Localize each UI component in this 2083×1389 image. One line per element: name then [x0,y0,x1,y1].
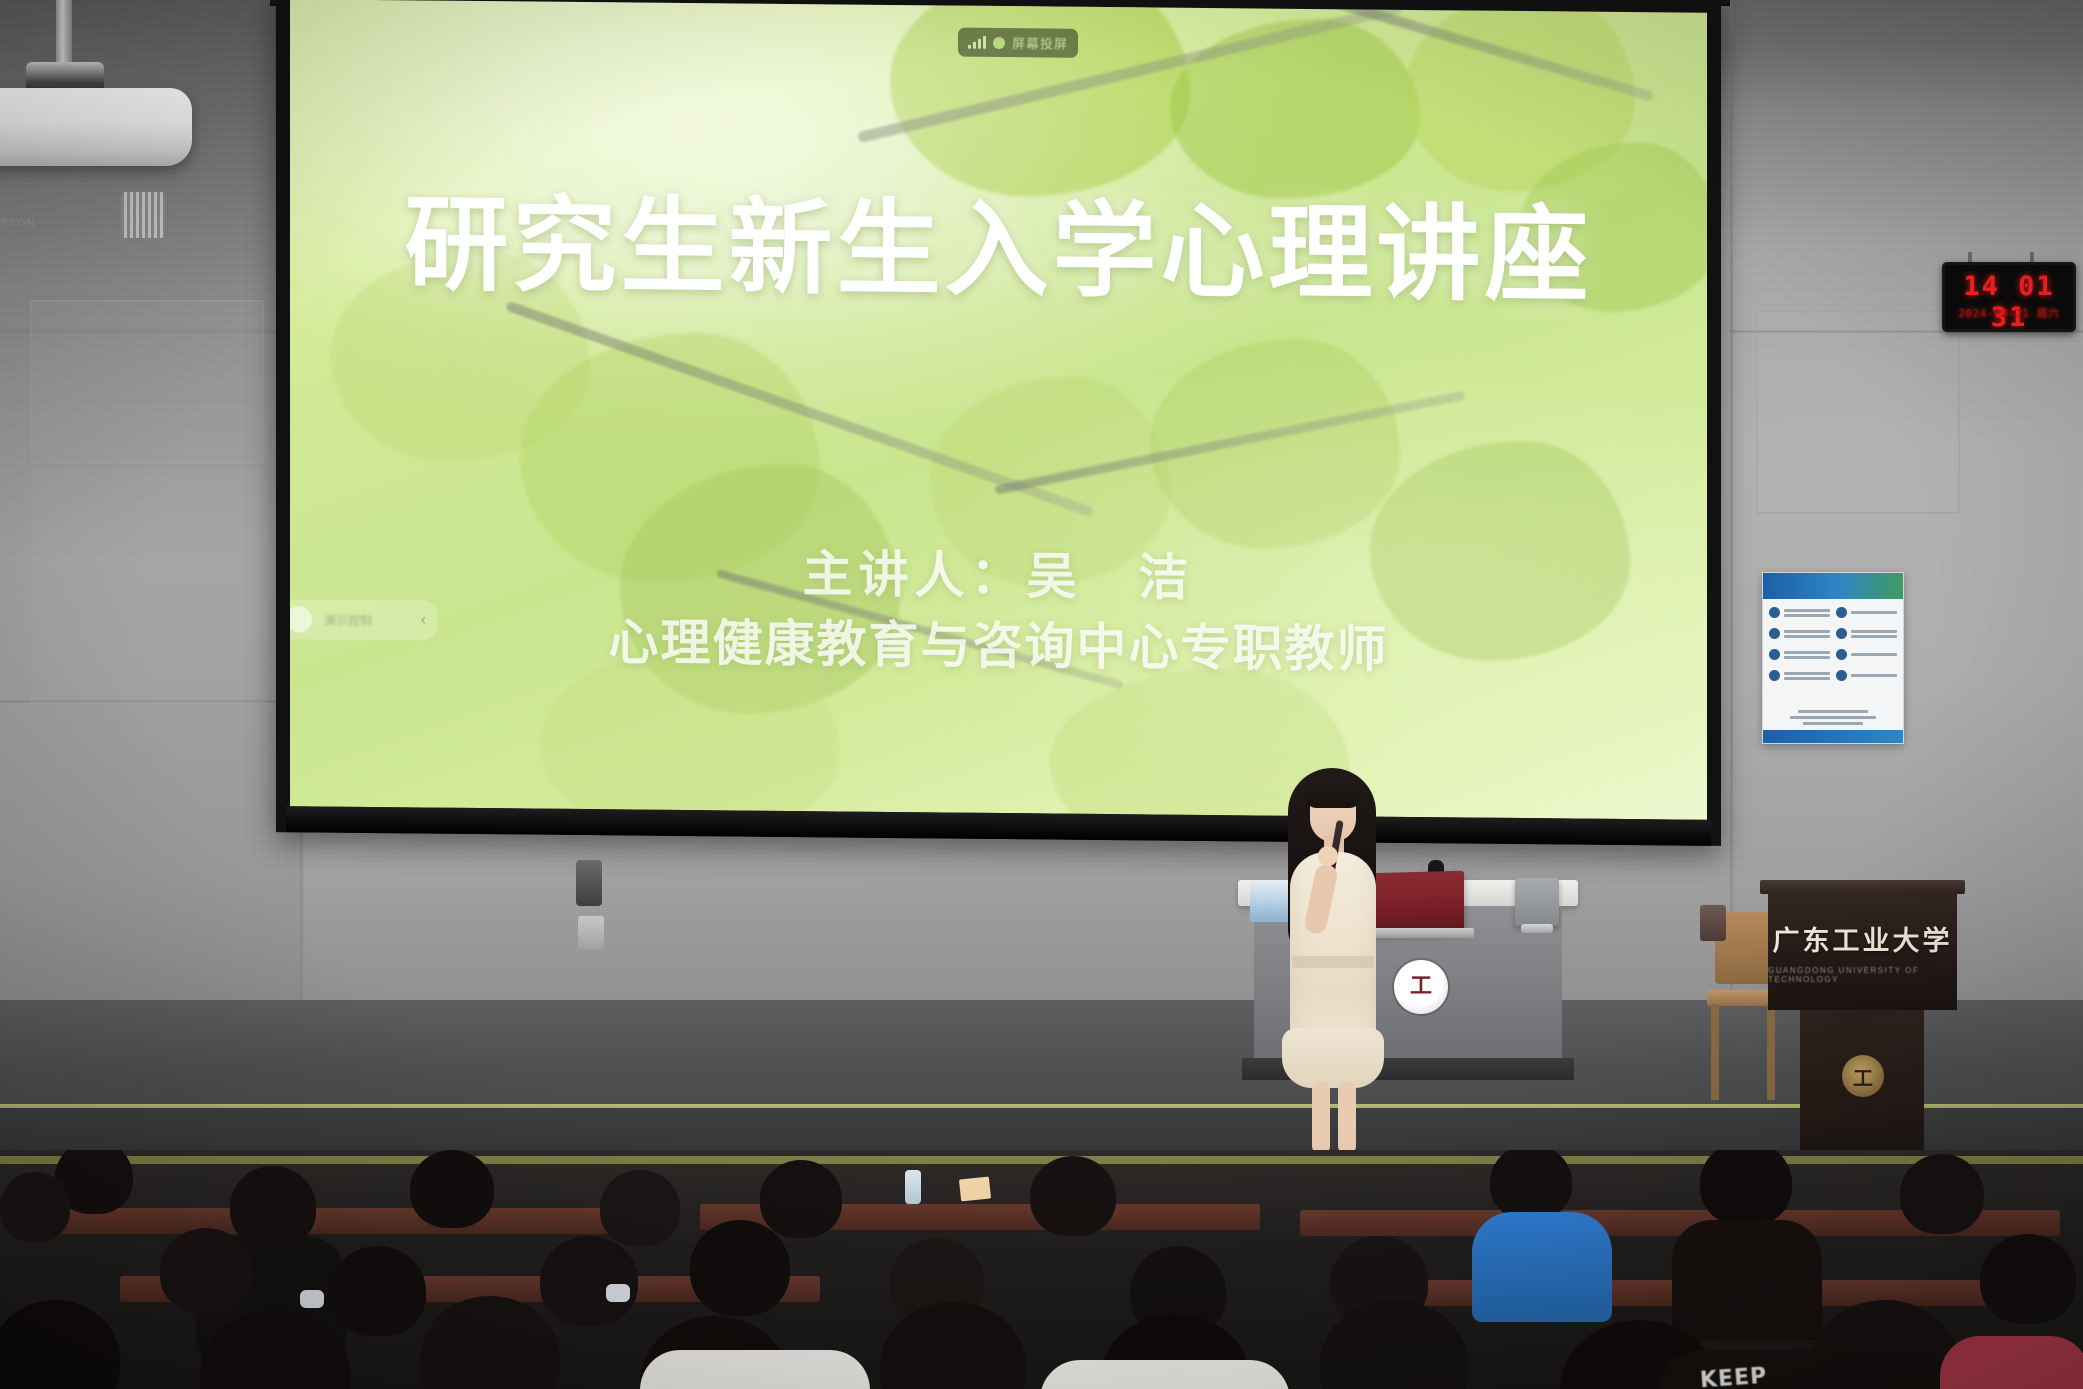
poster-bullet-icon [1769,628,1780,639]
poster-item [1769,670,1830,681]
cast-status-label: 屏幕投屏 [1012,33,1068,53]
app-circle-icon [290,606,312,632]
poster-text-lines [1784,672,1830,680]
poster-header [1763,573,1903,599]
audience-body [1672,1220,1822,1340]
presentation-control-overlay[interactable]: 演示控制 ‹ [290,599,438,641]
poster-item [1769,649,1830,660]
wall-sensor-icon [576,860,602,906]
leaf-shape [1150,337,1400,549]
clock-time: 14 01 31 [1945,271,2073,332]
audience-body [1472,1212,1612,1322]
audience-head [1980,1234,2076,1324]
podium-emblem-icon: 工 [1842,1055,1884,1097]
audience-bench [60,1208,660,1234]
presenter-leg [1312,1082,1330,1154]
audience-head [0,1300,120,1389]
poster-text-lines [1851,653,1897,656]
poster-bullet-icon [1769,607,1780,618]
audience-head [690,1220,790,1316]
chair-leg [1711,1004,1719,1100]
projector-icon: EPSON [0,88,192,166]
poster-bullet-icon [1836,649,1847,660]
presenter-leg [1338,1082,1356,1154]
wall-patch [30,300,264,464]
poster-text-lines [1784,630,1830,638]
clock-date: 2024-09-21 周六 [1945,305,2073,321]
presenter-belt [1292,956,1374,968]
poster-body [1763,599,1903,689]
water-bottle [905,1170,921,1204]
audience-body [1040,1360,1290,1389]
audience-head [600,1170,680,1246]
wall-instruction-poster [1762,572,1904,744]
water-bottle [1254,884,1266,914]
lecture-hall-scene: EPSON 研究生新生入学心理讲座 主讲人：吴 洁 [0,0,2083,1389]
desk-emblem-icon: 工 [1394,960,1448,1014]
slide-title: 研究生新生入学心理讲座 [290,189,1707,312]
poster-item [1836,649,1897,660]
podium-nameplate: 广东工业大学 GUANGDONG UNIVERSITY OF TECHNOLOG… [1768,892,1957,1010]
digital-wall-clock: 14 01 31 2024-09-21 周六 [1942,262,2076,332]
podium-name-en: GUANGDONG UNIVERSITY OF TECHNOLOGY [1768,966,1957,984]
poster-item [1769,628,1830,639]
poster-bullet-icon [1769,649,1780,660]
signal-bars-icon [968,36,986,49]
poster-column [1836,607,1897,681]
projector-vent [121,192,165,238]
poster-footer [1763,730,1903,743]
monitor-icon [1515,878,1559,926]
audience-head [160,1228,252,1314]
face-mask-icon [606,1284,630,1302]
poster-text-lines [1784,651,1830,659]
audience-head [760,1160,842,1238]
paper-note [959,1176,991,1201]
audience-head [410,1150,494,1228]
poster-item [1836,607,1897,618]
wall-outlet [578,916,604,950]
audience-body [640,1350,870,1389]
poster-item [1836,670,1897,681]
presentation-slide: 研究生新生入学心理讲座 主讲人：吴 洁 心理健康教育与咨询中心专职教师 屏幕投屏… [290,0,1707,820]
poster-item [1836,628,1897,639]
cast-status-overlay[interactable]: 屏幕投屏 [958,28,1078,58]
projection-screen: 研究生新生入学心理讲座 主讲人：吴 洁 心理健康教育与咨询中心专职教师 屏幕投屏… [276,0,1721,846]
audience-head [1490,1150,1572,1220]
audience-head [1900,1154,1984,1234]
poster-text-lines [1851,611,1897,614]
poster-footnote [1763,710,1903,725]
audience-head [540,1236,638,1326]
poster-column [1769,607,1830,681]
presenter-fringe [1305,774,1361,808]
audience-body [1940,1336,2083,1389]
audience-head [420,1296,560,1389]
audience-head [330,1246,426,1336]
presenter-hand [1318,846,1338,866]
poster-text-lines [1784,609,1830,617]
audience-head [1030,1156,1116,1236]
slide-affiliation-line: 心理健康教育与咨询中心专职教师 [290,599,1707,685]
poster-text-lines [1851,674,1897,677]
presenter [1272,760,1392,1180]
projector-brand-label: EPSON [0,217,36,229]
speaker-box [1700,905,1726,941]
face-mask-icon [300,1290,324,1308]
lecture-podium: 广东工业大学 GUANGDONG UNIVERSITY OF TECHNOLOG… [1760,880,1965,1190]
wall-patch [30,470,264,704]
chevron-left-icon[interactable]: ‹ [421,611,426,629]
poster-bullet-icon [1836,628,1847,639]
poster-item [1769,607,1830,618]
wall-patch [1756,310,1960,514]
leaf-shape [1170,18,1420,200]
audience-area: KEEP [0,1150,2083,1389]
tshirt-text: KEEP [1699,1364,1768,1389]
poster-bullet-icon [1836,670,1847,681]
presenter-dress-hem [1282,1028,1384,1088]
recording-dot-icon [993,36,1005,48]
audience-head [0,1172,70,1242]
monitor-stand [1521,924,1553,933]
poster-bullet-icon [1836,607,1847,618]
podium-name-cn: 广东工业大学 [1773,919,1953,958]
poster-bullet-icon [1769,670,1780,681]
audience-head [1700,1150,1792,1226]
presentation-control-label: 演示控制 [324,611,409,629]
desk-emblem-glyph: 工 [1408,975,1434,999]
poster-text-lines [1851,630,1897,638]
